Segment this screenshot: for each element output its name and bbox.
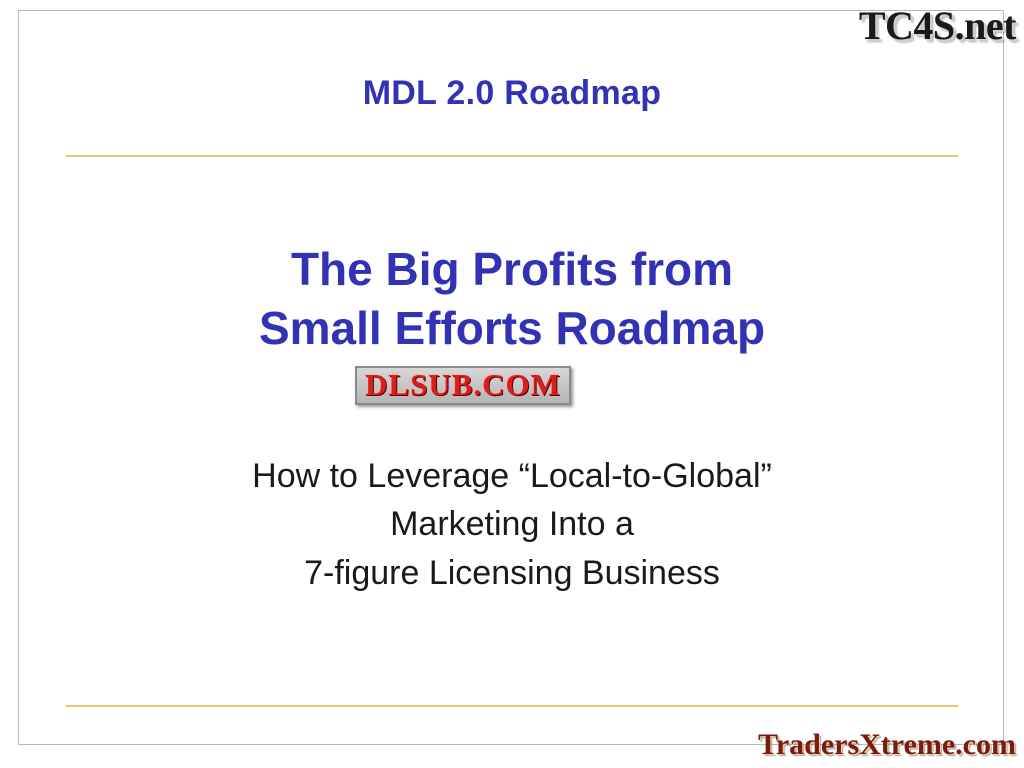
subheadline-line-1: How to Leverage “Local-to-Global” (0, 452, 1024, 500)
headline-line-1: The Big Profits from (0, 240, 1024, 299)
page-title: MDL 2.0 Roadmap (0, 74, 1024, 113)
divider-bottom (66, 705, 958, 707)
headline-line-2: Small Efforts Roadmap (0, 299, 1024, 358)
slide-canvas: MDL 2.0 Roadmap The Big Profits from Sma… (0, 0, 1024, 768)
watermark-bottom-right: TradersXtreme.com (758, 728, 1016, 762)
subheadline-line-2: Marketing Into a (0, 500, 1024, 548)
watermark-center-stamp: DLSUB.COM (355, 366, 571, 405)
subheadline-line-3: 7-figure Licensing Business (0, 549, 1024, 597)
divider-top (66, 155, 958, 157)
headline: The Big Profits from Small Efforts Roadm… (0, 240, 1024, 358)
watermark-top-right: TC4S.net (859, 2, 1016, 49)
subheadline: How to Leverage “Local-to-Global” Market… (0, 452, 1024, 597)
